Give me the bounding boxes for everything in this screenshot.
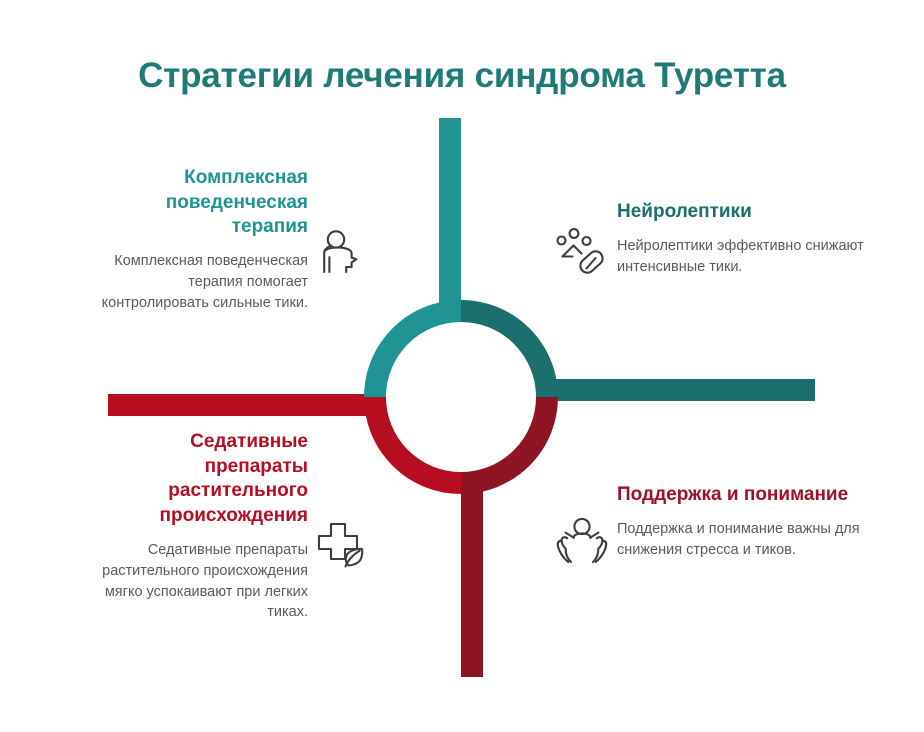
ring-arc-top-left bbox=[375, 311, 461, 397]
quadrant-body: Седативные препараты растительного проис… bbox=[96, 540, 308, 624]
quadrant-top-left: Комплексная поведенческая терапия Компле… bbox=[96, 166, 308, 314]
infographic-canvas: Стратегии лечения синдрома Туретта Компл… bbox=[0, 0, 924, 732]
ring-arc-bottom-left bbox=[375, 397, 461, 483]
page-title: Стратегии лечения синдрома Туретта bbox=[0, 56, 924, 95]
caring-hands-icon bbox=[553, 514, 611, 572]
left-stem bbox=[108, 394, 375, 416]
quadrant-heading: Комплексная поведенческая терапия bbox=[96, 166, 308, 240]
quadrant-body: Нейролептики эффективно снижают интенсив… bbox=[617, 236, 867, 278]
quadrant-bottom-left: Седативные препараты растительного проис… bbox=[96, 430, 308, 623]
top-stem bbox=[439, 118, 461, 311]
quadrant-heading: Седативные препараты растительного проис… bbox=[96, 430, 308, 529]
quadrant-bottom-right: Поддержка и понимание Поддержка и понима… bbox=[617, 483, 879, 560]
pills-capsule-icon bbox=[553, 224, 611, 282]
quadrant-body: Поддержка и понимание важны для снижения… bbox=[617, 519, 879, 561]
right-stem bbox=[547, 379, 815, 401]
medical-cross-leaf-icon bbox=[314, 518, 372, 576]
head-thought-icon bbox=[312, 226, 370, 284]
quadrant-body: Комплексная поведенческая терапия помога… bbox=[96, 251, 308, 314]
quadrant-heading: Поддержка и понимание bbox=[617, 483, 879, 508]
quadrant-heading: Нейролептики bbox=[617, 200, 867, 225]
ring-arc-bottom-right bbox=[461, 397, 547, 483]
ring-arc-top-right bbox=[461, 311, 547, 397]
bottom-stem bbox=[461, 483, 483, 677]
quadrant-top-right: Нейролептики Нейролептики эффективно сни… bbox=[617, 200, 867, 277]
